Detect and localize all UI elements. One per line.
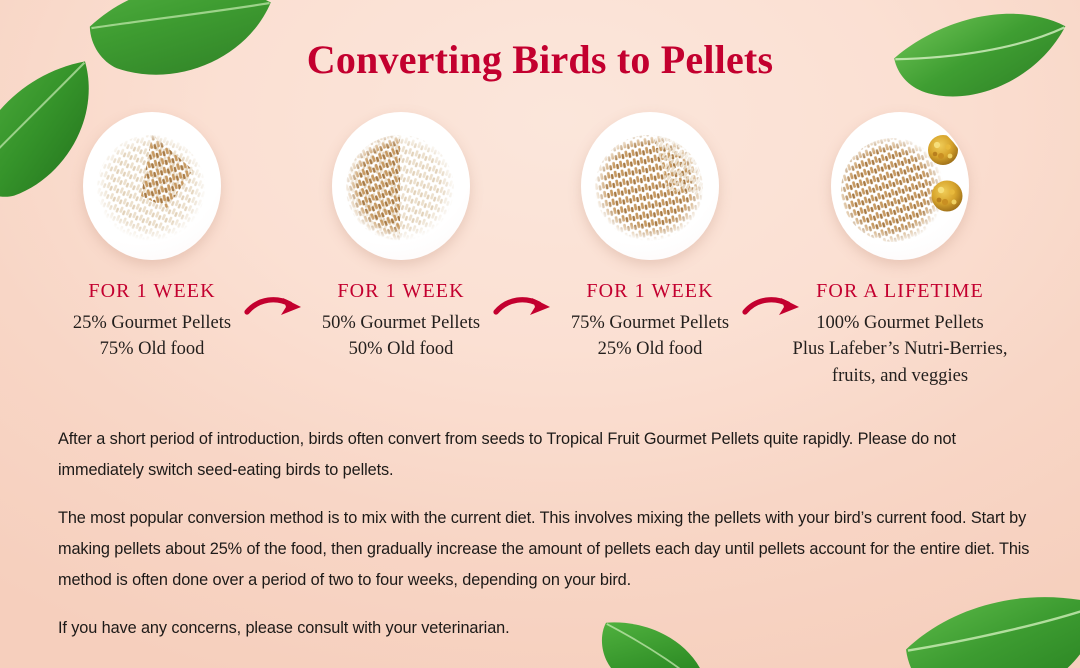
page-title: Converting Birds to Pellets <box>0 38 1080 82</box>
step-1: FOR 1 WEEK 25% Gourmet Pellets 75% Old f… <box>27 112 277 363</box>
pellet-bowl-75-icon <box>581 112 719 260</box>
step-4: FOR A LIFETIME 100% Gourmet Pellets Plus… <box>775 112 1025 389</box>
step-3: FOR 1 WEEK 75% Gourmet Pellets 25% Old f… <box>525 112 775 363</box>
arrow-right-icon-1 <box>243 292 307 326</box>
step-4-line-2: Plus Lafeber’s Nutri-Berries, <box>775 336 1025 362</box>
step-4-duration: FOR A LIFETIME <box>775 280 1025 303</box>
infographic-canvas: Converting Birds to Pellets <box>0 0 1080 668</box>
step-4-line-1: 100% Gourmet Pellets <box>775 310 1025 336</box>
step-2-duration: FOR 1 WEEK <box>276 280 526 303</box>
pellet-bowl-50-icon <box>332 112 470 260</box>
step-4-detail: 100% Gourmet Pellets Plus Lafeber’s Nutr… <box>775 310 1025 389</box>
conversion-steps: FOR 1 WEEK 25% Gourmet Pellets 75% Old f… <box>0 112 1080 412</box>
pellet-bowl-100-with-berries-icon <box>831 112 969 260</box>
step-3-detail: 75% Gourmet Pellets 25% Old food <box>525 310 775 363</box>
step-3-line-2: 25% Old food <box>525 336 775 362</box>
step-2-line-1: 50% Gourmet Pellets <box>276 310 526 336</box>
step-3-duration: FOR 1 WEEK <box>525 280 775 303</box>
arrow-right-icon-2 <box>492 292 556 326</box>
paragraph-3: If you have any concerns, please consult… <box>58 613 1034 644</box>
step-2: FOR 1 WEEK 50% Gourmet Pellets 50% Old f… <box>276 112 526 363</box>
paragraph-1: After a short period of introduction, bi… <box>58 424 1034 486</box>
step-4-line-3: fruits, and veggies <box>775 363 1025 389</box>
step-1-line-2: 75% Old food <box>27 336 277 362</box>
pellet-bowl-25-icon <box>83 112 221 260</box>
arrow-right-icon-3 <box>741 292 805 326</box>
paragraph-2: The most popular conversion method is to… <box>58 503 1034 596</box>
step-1-duration: FOR 1 WEEK <box>27 280 277 303</box>
step-1-detail: 25% Gourmet Pellets 75% Old food <box>27 310 277 363</box>
step-1-line-1: 25% Gourmet Pellets <box>27 310 277 336</box>
nutri-berry-upper <box>928 135 958 165</box>
body-copy: After a short period of introduction, bi… <box>58 424 1034 644</box>
step-2-detail: 50% Gourmet Pellets 50% Old food <box>276 310 526 363</box>
step-2-line-2: 50% Old food <box>276 336 526 362</box>
nutri-berry-lower <box>932 181 963 212</box>
step-3-line-1: 75% Gourmet Pellets <box>525 310 775 336</box>
